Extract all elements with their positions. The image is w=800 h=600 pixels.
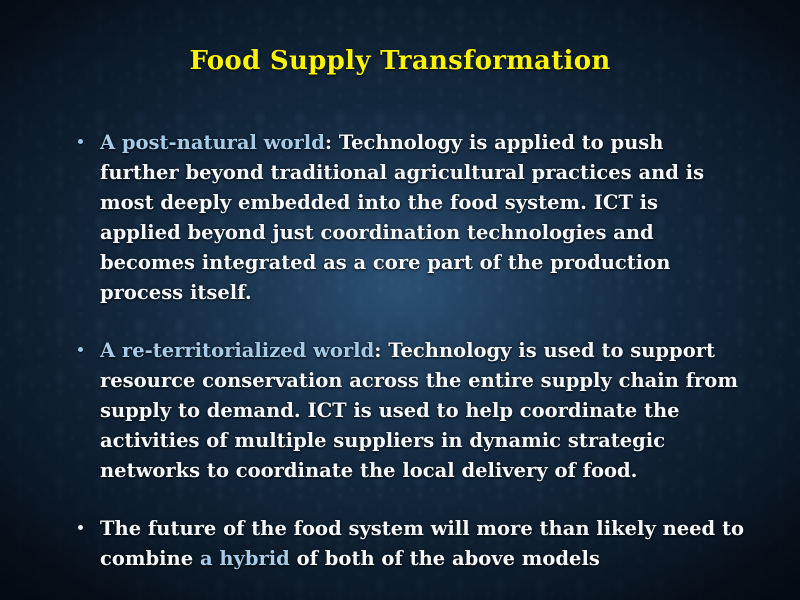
- bullet-separator: :: [374, 339, 388, 362]
- slide-title: Food Supply Transformation: [0, 46, 800, 76]
- bullet-body: Technology is applied to push further be…: [100, 131, 704, 304]
- presentation-slide: Food Supply Transformation A post-natura…: [0, 0, 800, 600]
- bullet-item-post-natural-world: A post-natural world: Technology is appl…: [74, 128, 744, 308]
- bullet-text: A post-natural world: Technology is appl…: [100, 128, 744, 308]
- bullet-list: A post-natural world: Technology is appl…: [74, 128, 744, 574]
- bullet-text: The future of the food system will more …: [100, 514, 744, 574]
- bullet-lead-term: A re-territorialized world: [100, 339, 374, 362]
- bullet-highlight-term: a hybrid: [200, 547, 290, 570]
- bullet-item-hybrid-future: The future of the food system will more …: [74, 514, 744, 574]
- bullet-dot-icon: [78, 139, 83, 144]
- slide-content: Food Supply Transformation A post-natura…: [0, 0, 800, 600]
- bullet-lead-term: A post-natural world: [100, 131, 325, 154]
- bullet-dot-icon: [78, 525, 83, 530]
- bullet-item-re-territorialized-world: A re-territorialized world: Technology i…: [74, 336, 744, 486]
- bullet-dot-icon: [78, 347, 83, 352]
- bullet-separator: :: [325, 131, 339, 154]
- bullet-text: A re-territorialized world: Technology i…: [100, 336, 744, 486]
- bullet-text-after: of both of the above models: [290, 547, 600, 570]
